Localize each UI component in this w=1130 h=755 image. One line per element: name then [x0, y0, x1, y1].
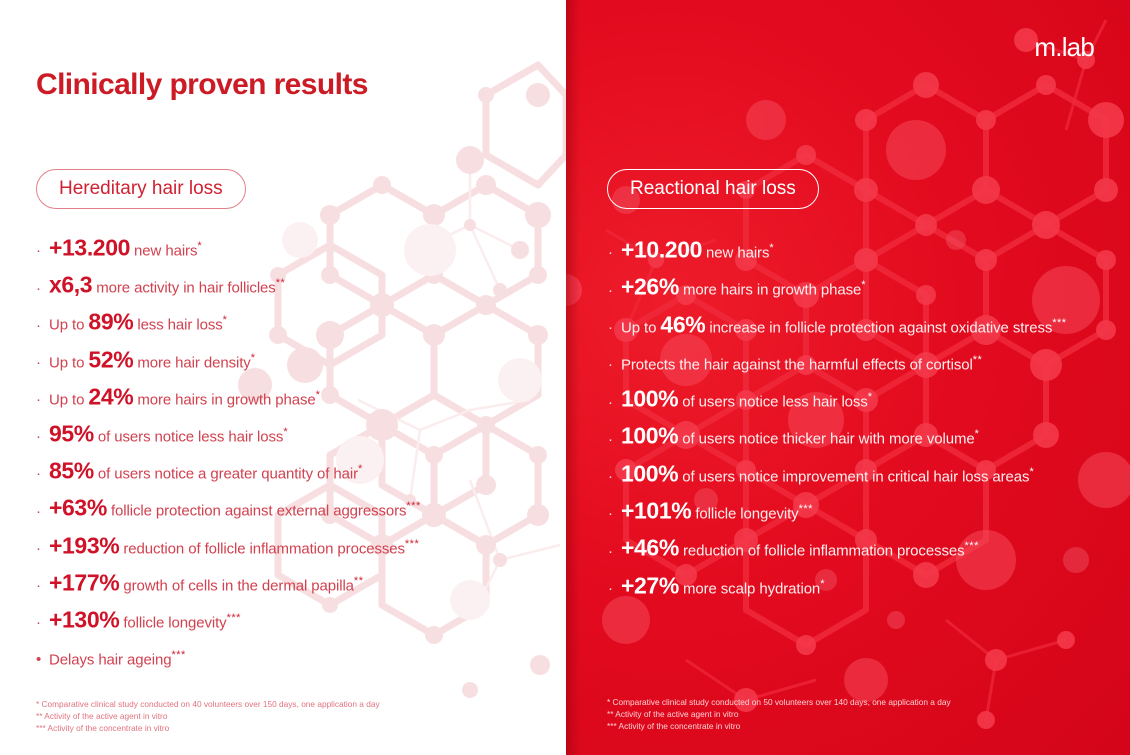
bullet-icon: • [36, 641, 49, 678]
item-description: of users notice less hair loss [94, 428, 283, 445]
item-description: reduction of follicle inflammation proce… [679, 543, 965, 560]
reactional-results-list: ·+10.200 new hairs*·+26% more hairs in g… [608, 230, 1108, 603]
bullet-icon: · [36, 455, 49, 492]
footnote-line: *** Activity of the concentrate in vitro [36, 722, 380, 734]
bullet-icon: · [608, 495, 621, 532]
footnote-line: *** Activity of the concentrate in vitro [607, 720, 951, 732]
footnote-marker: * [975, 428, 980, 440]
item-metric: +10.200 [621, 236, 702, 262]
list-item: ·+177% growth of cells in the dermal pap… [36, 563, 556, 600]
list-item: ·Up to 89% less hair loss* [36, 302, 556, 339]
item-metric: +46% [621, 535, 679, 561]
item-description: more hairs in growth phase [679, 282, 861, 299]
item-description: of users notice thicker hair with more v… [678, 431, 974, 448]
footnote-marker: *** [965, 540, 979, 552]
item-metric: 85% [49, 457, 94, 483]
item-metric: +193% [49, 532, 119, 558]
list-item: ·100% of users notice improvement in cri… [608, 454, 1108, 491]
hereditary-footnotes: * Comparative clinical study conducted o… [36, 698, 380, 734]
bullet-icon: · [36, 381, 49, 418]
list-item: ·95% of users notice less hair loss* [36, 414, 556, 451]
footnote-marker: *** [405, 538, 419, 550]
item-description: more activity in hair follicles [92, 280, 276, 297]
bullet-icon: · [36, 604, 49, 641]
list-item: ·+27% more scalp hydration* [608, 566, 1108, 603]
item-description: follicle protection against external agg… [107, 503, 407, 520]
item-description: follicle longevity [691, 505, 798, 522]
list-item: ·Protects the hair against the harmful e… [608, 342, 1108, 379]
list-item: ·100% of users notice less hair loss* [608, 379, 1108, 416]
bullet-icon: · [608, 570, 621, 607]
list-item: ·+46% reduction of follicle inflammation… [608, 528, 1108, 565]
item-metric: +63% [49, 495, 107, 521]
badge-reactional[interactable]: Reactional hair loss [607, 169, 819, 209]
item-description: growth of cells in the dermal papilla [119, 577, 354, 594]
bullet-icon: · [608, 272, 621, 309]
footnote-marker: * [251, 352, 256, 364]
footnote-marker: *** [171, 649, 185, 661]
footnote-marker: * [197, 240, 202, 252]
bullet-icon: · [36, 270, 49, 307]
item-description: more hairs in growth phase [133, 391, 315, 408]
hereditary-panel: Clinically proven results Hereditary hai… [0, 0, 566, 755]
item-metric: +130% [49, 606, 119, 632]
footnote-line: ** Activity of the active agent in vitro [607, 708, 951, 720]
list-item: ·Up to 24% more hairs in growth phase* [36, 377, 556, 414]
list-item: •Delays hair ageing*** [36, 637, 556, 674]
footnote-line: * Comparative clinical study conducted o… [36, 698, 380, 710]
list-item: ·+130% follicle longevity*** [36, 600, 556, 637]
item-description: of users notice less hair loss [678, 394, 867, 411]
bullet-icon: · [608, 384, 621, 421]
bullet-icon: · [36, 493, 49, 530]
list-item: ·+101% follicle longevity*** [608, 491, 1108, 528]
item-metric: 52% [88, 346, 133, 372]
item-metric: +26% [621, 274, 679, 300]
item-description: less hair loss [133, 317, 222, 334]
footnote-marker: * [820, 578, 825, 590]
panel-edge-shadow [566, 0, 580, 755]
item-description: follicle longevity [119, 614, 226, 631]
item-metric: 46% [660, 311, 705, 337]
item-description: new hairs [702, 244, 769, 261]
list-item: ·+63% follicle protection against extern… [36, 488, 556, 525]
brand-logo: m.lab [1034, 32, 1094, 63]
bullet-icon: · [36, 530, 49, 567]
footnote-marker: ** [973, 354, 983, 366]
item-prefix: Up to [49, 391, 88, 408]
list-item: ·+193% reduction of follicle inflammatio… [36, 526, 556, 563]
list-item: ·x6,3 more activity in hair follicles** [36, 265, 556, 302]
list-item: ·100% of users notice thicker hair with … [608, 416, 1108, 453]
item-description: more scalp hydration [679, 580, 820, 597]
item-prefix: Up to [49, 354, 88, 371]
item-prefix: Up to [49, 317, 88, 334]
item-description: of users notice a greater quantity of ha… [94, 465, 358, 482]
footnote-line: * Comparative clinical study conducted o… [607, 696, 951, 708]
item-metric: 89% [88, 309, 133, 335]
footnote-marker: *** [406, 500, 420, 512]
item-metric: x6,3 [49, 272, 92, 298]
bullet-icon: · [36, 418, 49, 455]
hereditary-results-list: ·+13.200 new hairs*·x6,3 more activity i… [36, 228, 556, 674]
list-item: ·+26% more hairs in growth phase* [608, 267, 1108, 304]
item-description: more hair density [133, 354, 250, 371]
item-metric: +101% [621, 497, 691, 523]
bullet-icon: · [36, 567, 49, 604]
list-item: ·+13.200 new hairs* [36, 228, 556, 265]
list-item: ·85% of users notice a greater quantity … [36, 451, 556, 488]
item-metric: 100% [621, 460, 678, 486]
footnote-marker: * [316, 389, 321, 401]
item-metric: 95% [49, 420, 94, 446]
bullet-icon: · [608, 421, 621, 458]
bullet-icon: · [36, 232, 49, 269]
item-description: increase in follicle protection against … [705, 319, 1052, 336]
bullet-icon: · [608, 346, 621, 383]
item-metric: +177% [49, 569, 119, 595]
reactional-footnotes: * Comparative clinical study conducted o… [607, 696, 951, 732]
footnote-marker: * [868, 391, 873, 403]
footnote-marker: * [223, 314, 228, 326]
footnote-marker: * [1029, 466, 1034, 478]
footnote-marker: ** [354, 575, 364, 587]
item-metric: 100% [621, 423, 678, 449]
item-metric: +27% [621, 572, 679, 598]
footnote-marker: * [861, 279, 866, 291]
bullet-icon: · [608, 533, 621, 570]
footnote-line: ** Activity of the active agent in vitro [36, 710, 380, 722]
list-item: ·+10.200 new hairs* [608, 230, 1108, 267]
bullet-icon: · [608, 458, 621, 495]
bullet-icon: · [36, 344, 49, 381]
item-description: reduction of follicle inflammation proce… [119, 540, 405, 557]
item-metric: 24% [88, 383, 133, 409]
item-description: of users notice improvement in critical … [678, 468, 1029, 485]
footnote-marker: * [769, 242, 774, 254]
footnote-marker: * [358, 463, 363, 475]
item-description: new hairs [130, 242, 197, 259]
item-prefix: Up to [621, 319, 660, 336]
badge-hereditary[interactable]: Hereditary hair loss [36, 169, 246, 209]
item-metric: 100% [621, 386, 678, 412]
footnote-marker: *** [1052, 317, 1066, 329]
footnote-marker: *** [227, 612, 241, 624]
item-metric: +13.200 [49, 234, 130, 260]
footnote-marker: ** [276, 277, 286, 289]
list-item: ·Up to 52% more hair density* [36, 340, 556, 377]
bullet-icon: · [608, 309, 621, 346]
list-item: ·Up to 46% increase in follicle protecti… [608, 305, 1108, 342]
bullet-icon: · [608, 234, 621, 271]
bullet-icon: · [36, 307, 49, 344]
results-infographic: Clinically proven results Hereditary hai… [0, 0, 1130, 755]
item-description: Delays hair ageing [49, 651, 171, 668]
page-title: Clinically proven results [36, 68, 368, 102]
item-description: Protects the hair against the harmful ef… [621, 356, 973, 373]
footnote-marker: * [283, 426, 288, 438]
footnote-marker: *** [799, 503, 813, 515]
